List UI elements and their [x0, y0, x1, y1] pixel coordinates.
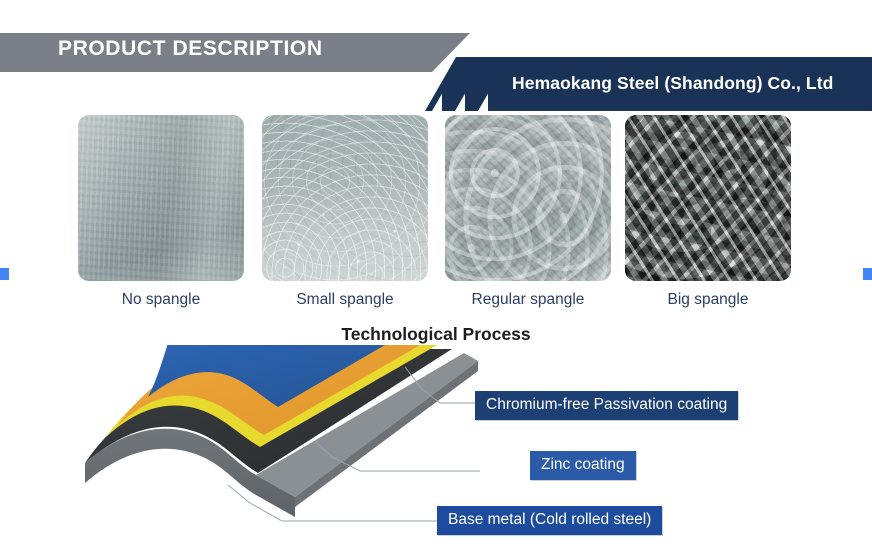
sample-label-no-spangle: No spangle [61, 291, 261, 309]
sample-label-big-spangle: Big spangle [608, 291, 808, 309]
callout-passivation-coating: Chromium-free Passivation coating [475, 391, 738, 420]
section-title: Technological Process [0, 324, 872, 345]
sample-tile-big-spangle [625, 115, 791, 281]
sample-tile-regular-spangle [445, 115, 611, 281]
zinc-texture-small-icon [262, 115, 428, 281]
zinc-texture-none-icon [78, 115, 244, 281]
sample-label-small-spangle: Small spangle [245, 291, 445, 309]
layer-structure-diagram [60, 345, 480, 551]
zinc-texture-big-icon [625, 115, 791, 281]
selection-handle-right[interactable] [863, 268, 872, 280]
callout-base-metal: Base metal (Cold rolled steel) [437, 506, 662, 535]
page-title: PRODUCT DESCRIPTION [58, 37, 323, 61]
company-name: Hemaokang Steel (Shandong) Co., Ltd [512, 73, 833, 94]
sample-tile-no-spangle [78, 115, 244, 281]
sample-label-regular-spangle: Regular spangle [428, 291, 628, 309]
sample-tile-small-spangle [262, 115, 428, 281]
section-title-text: Technological Process [341, 324, 530, 345]
product-description-page: PRODUCT DESCRIPTION Hemaokang Steel (Sha… [0, 0, 872, 551]
zinc-texture-regular-icon [445, 115, 611, 281]
header-band: PRODUCT DESCRIPTION Hemaokang Steel (Sha… [0, 33, 872, 111]
callout-zinc-coating: Zinc coating [530, 451, 636, 480]
selection-handle-left[interactable] [0, 268, 9, 280]
